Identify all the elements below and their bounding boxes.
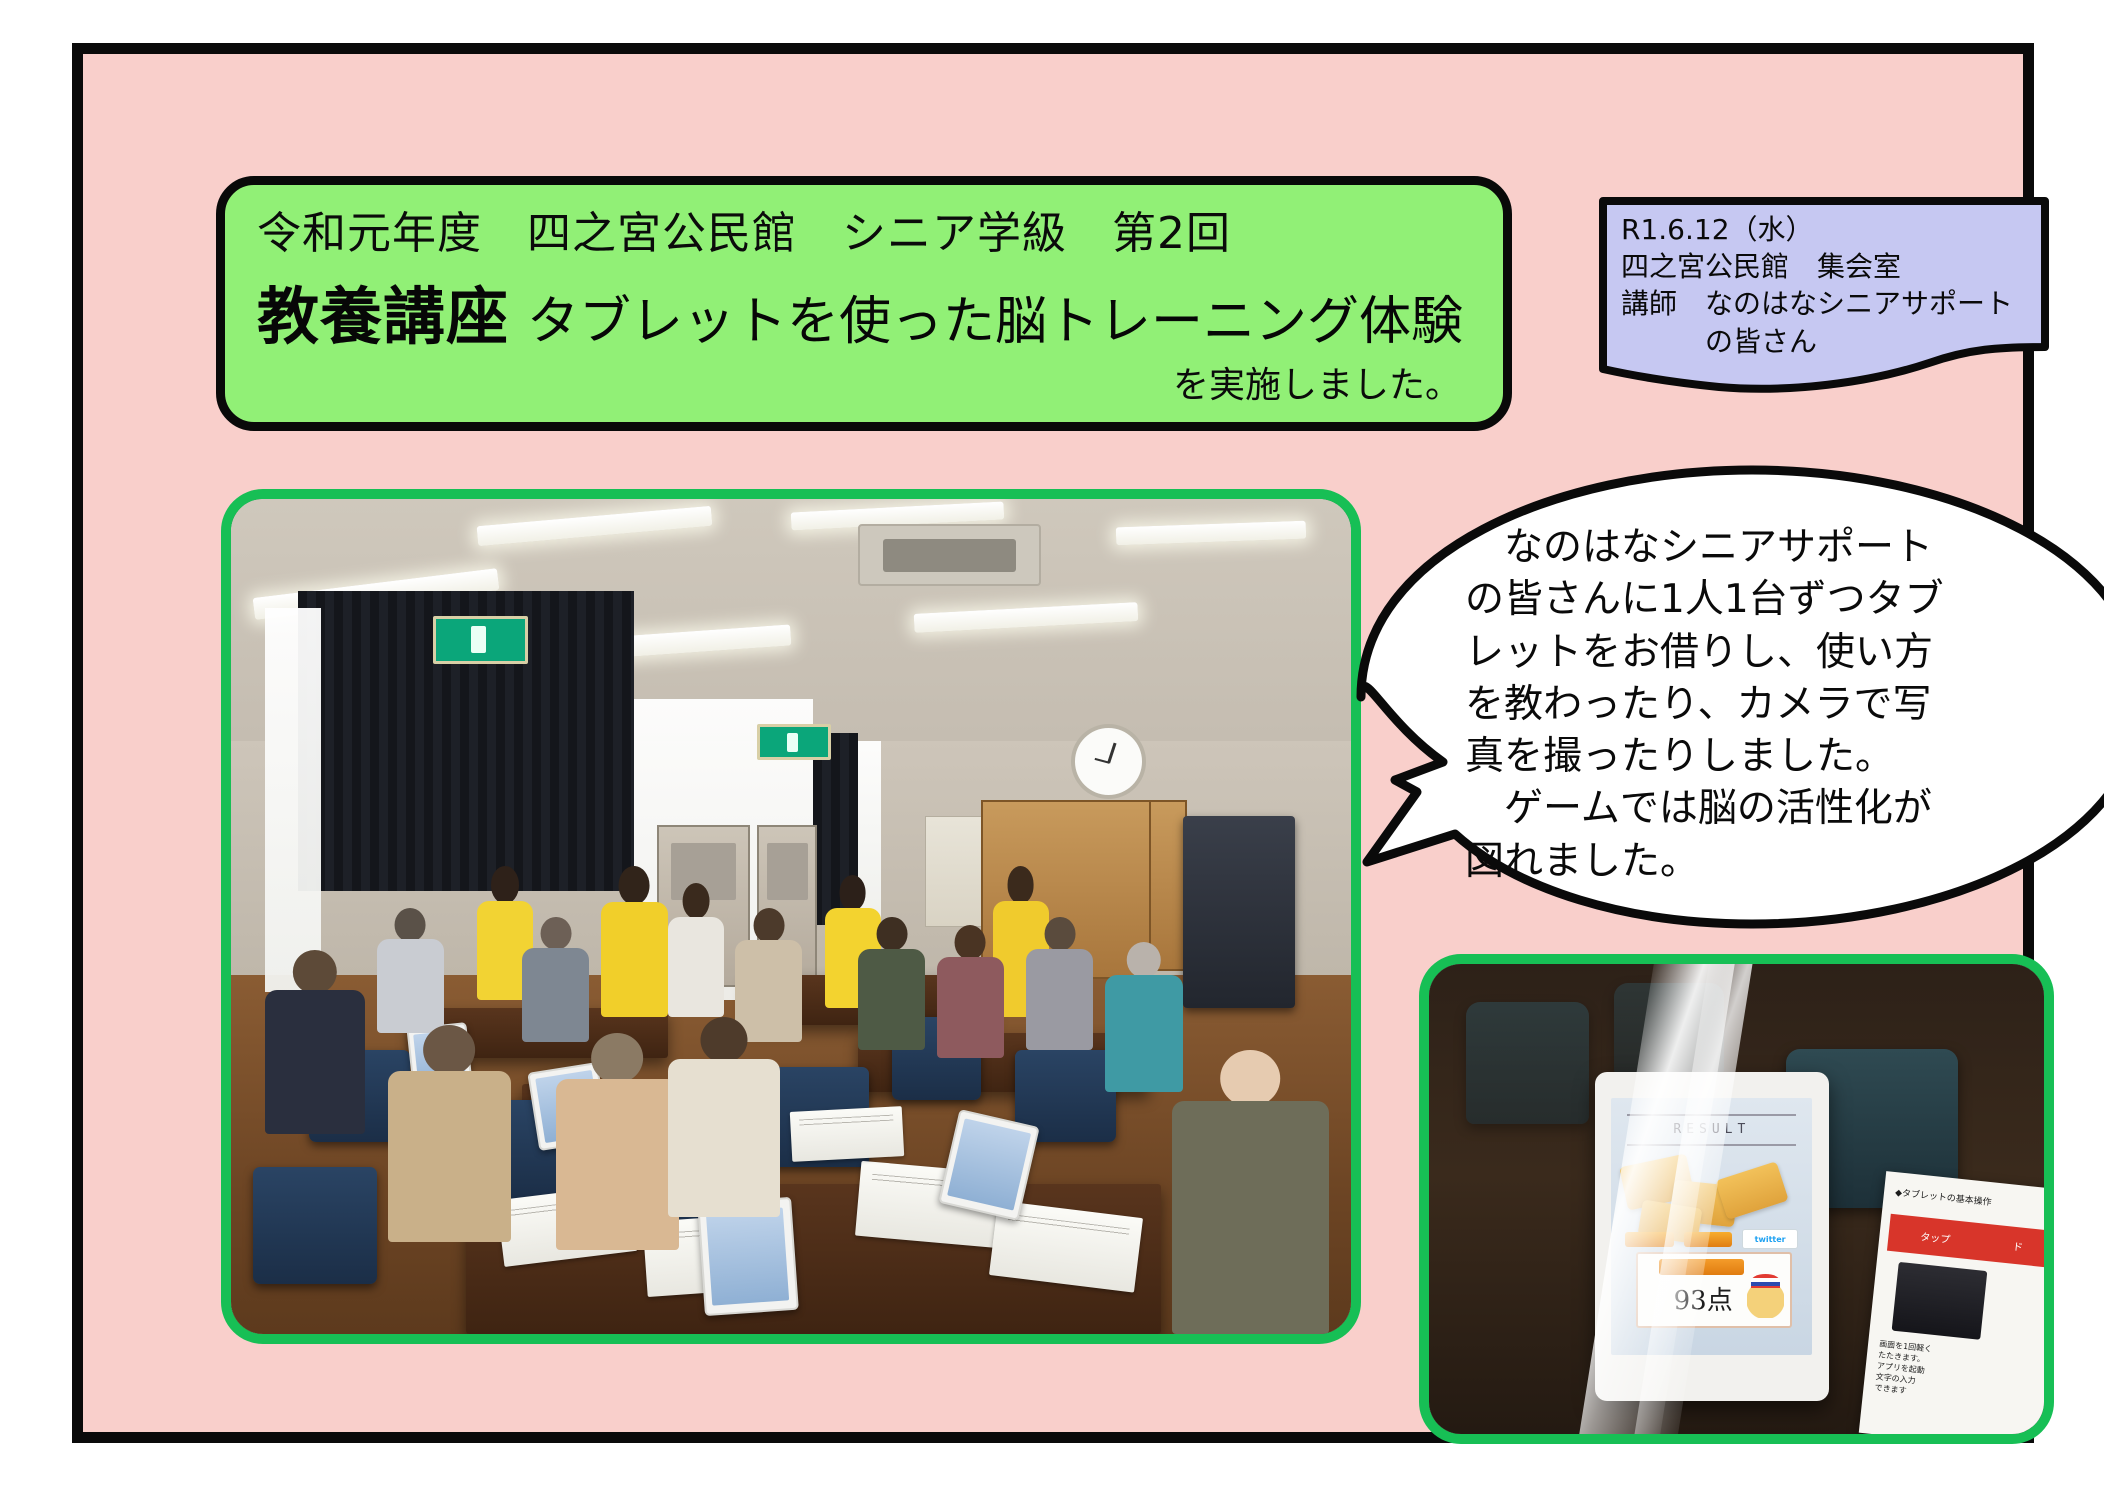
classroom-photo-scene [231,499,1351,1334]
head [293,950,337,994]
handout-description: 画面を1回軽く たたきます。 アプリを起動 文字の入力 できます [1874,1340,1990,1405]
head [839,875,866,911]
wall-calendar [925,816,983,927]
wall-clock [1071,724,1146,799]
participant [937,925,1004,1059]
title-trailing-text: を実施しました。 [257,356,1475,408]
head [592,1033,644,1083]
tablet-screen [947,1119,1030,1211]
participant [1172,1050,1329,1334]
head [753,908,784,943]
torso [1026,949,1093,1051]
participant [265,950,366,1134]
head [395,908,426,942]
torso [601,902,668,1016]
head [1007,866,1034,904]
info-instructor: 講師 なのはなシニアサポート [1621,287,2013,320]
handout-title: ◆タブレットの基本操作 [1894,1186,2054,1216]
tablet-photo-scene: RESULT twitter 93点 [1429,964,2044,1434]
action-button[interactable] [1625,1232,1673,1247]
exit-sign [757,724,830,760]
participant [1026,917,1093,1051]
participant [668,883,724,1017]
torso [556,1079,679,1251]
info-date: R1.6.12（水） [1621,213,1814,246]
speech-bubble: なのはなシニアサポート の皆さんに1人1台ずつタブ レットをお借りし、使い方 を… [1347,462,2104,932]
head [876,917,907,952]
tablet-screen [706,1207,789,1305]
chair [1614,983,1725,1077]
torso [522,948,589,1042]
page-title: 教養講座 [257,286,509,348]
action-button[interactable] [1684,1232,1732,1247]
participant [668,1017,780,1217]
participant [556,1033,679,1250]
food-image [1715,1161,1789,1220]
torso [377,939,444,1033]
air-conditioner [858,524,1041,586]
participant [388,1025,511,1242]
event-info-note: R1.6.12（水） 四之宮公民館 集会室 講師 なのはなシニアサポート の皆さ… [1599,197,2049,407]
sheer-curtain [265,608,321,992]
torso [265,990,366,1133]
head [619,866,650,905]
stacked-chairs [1183,816,1295,1008]
participant [522,917,589,1042]
tablet-result-photo: RESULT twitter 93点 [1419,954,2054,1444]
handout-col-tap: タップ [1919,1228,1950,1246]
info-note-text: R1.6.12（水） 四之宮公民館 集会室 講師 なのはなシニアサポート の皆さ… [1621,211,2041,360]
handout-column-headers: タップ ド [1887,1214,2054,1268]
poster-frame: 令和元年度 四之宮公民館 シニア学級 第2回 教養講座 タブレットを使った脳トレ… [72,43,2034,1443]
torso [388,1071,511,1243]
chair [1466,1002,1589,1124]
torso [668,917,724,1017]
head [955,925,986,960]
poster-page: 令和元年度 四之宮公民館 シニア学級 第2回 教養講座 タブレットを使った脳トレ… [0,0,2104,1488]
head [1220,1050,1280,1107]
handout-card: ◆タブレットの基本操作 タップ ド 画面を1回軽く たたきます。 アプリを起動 … [1859,1171,2054,1444]
participant [858,917,925,1051]
twitter-share-button[interactable]: twitter [1742,1229,1798,1249]
title-banner: 令和元年度 四之宮公民館 シニア学級 第2回 教養講座 タブレットを使った脳トレ… [216,176,1512,431]
head [424,1025,476,1075]
score-panel: 93点 [1636,1252,1793,1328]
title-subtitle: タブレットを使った脳トレーニング体験 [527,296,1463,348]
torso [668,1059,780,1217]
title-heading-row: 教養講座 タブレットを使った脳トレーニング体験 [257,286,1475,348]
chair [253,1167,376,1284]
head [1127,942,1161,978]
tablet-device: RESULT twitter 93点 [1595,1072,1829,1401]
handout-col-drag: ド [2012,1238,2024,1254]
score-value: 93点 [1653,1276,1754,1321]
participant [377,908,444,1033]
tablet-screen: RESULT twitter 93点 [1611,1098,1812,1355]
torso [858,949,925,1051]
handout-tablet-illustration [1892,1263,1987,1340]
head [1044,917,1075,952]
info-instructor-cont: の皆さん [1621,325,1817,358]
head [700,1017,747,1063]
head [682,883,709,919]
handout [790,1106,904,1162]
mascot-icon [1747,1273,1784,1318]
volunteer [601,866,668,1016]
speech-bubble-text: なのはなシニアサポート の皆さんに1人1台ずつタブ レットをお借りし、使い方 を… [1465,522,2085,888]
score-label-banner [1659,1259,1745,1275]
head [540,917,571,951]
title-subheading: 令和元年度 四之宮公民館 シニア学級 第2回 [257,209,1475,260]
info-venue: 四之宮公民館 集会室 [1621,250,1901,283]
classroom-photo [221,489,1361,1344]
torso [1172,1101,1329,1334]
exit-sign [433,616,529,664]
head [491,866,519,903]
result-header: RESULT [1627,1114,1796,1146]
torso [937,957,1004,1059]
